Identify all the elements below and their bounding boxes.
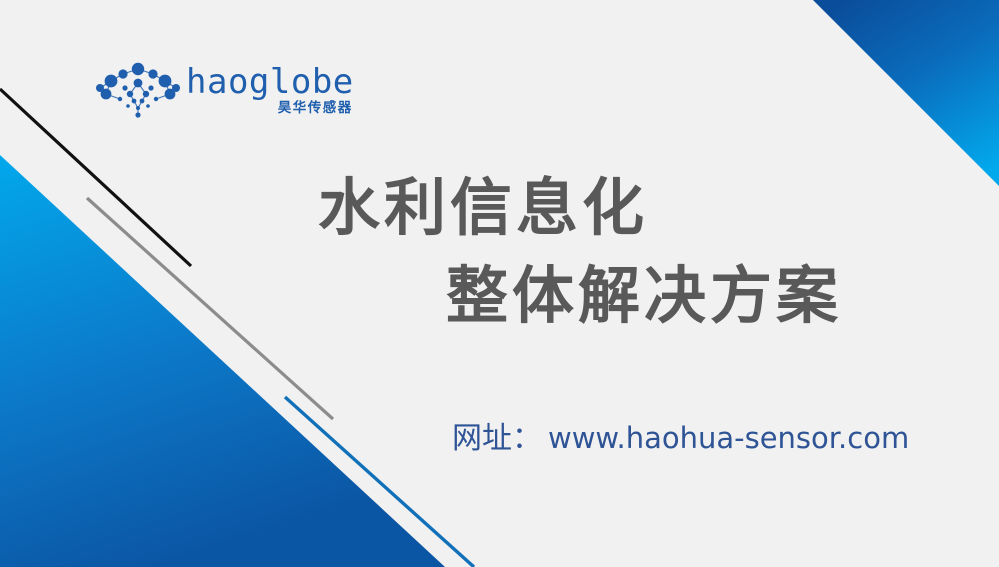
molecule-network-dots-icon — [96, 61, 180, 121]
website-line: 网址： www.haohua-sensor.com — [452, 418, 909, 466]
presentation-title-slide: haoglobe 昊华传感器 水利信息化 整体解决方案 网址： www.haoh… — [0, 0, 999, 567]
company-logo: haoglobe 昊华传感器 — [96, 58, 326, 124]
logo-wordmark: haoglobe — [186, 65, 354, 99]
logo-chinese-subtitle: 昊华传感器 — [278, 100, 353, 116]
logo-text-group: haoglobe 昊华传感器 — [186, 60, 354, 122]
website-url[interactable]: www.haohua-sensor.com — [548, 418, 909, 458]
website-label: 网址： — [452, 419, 542, 459]
